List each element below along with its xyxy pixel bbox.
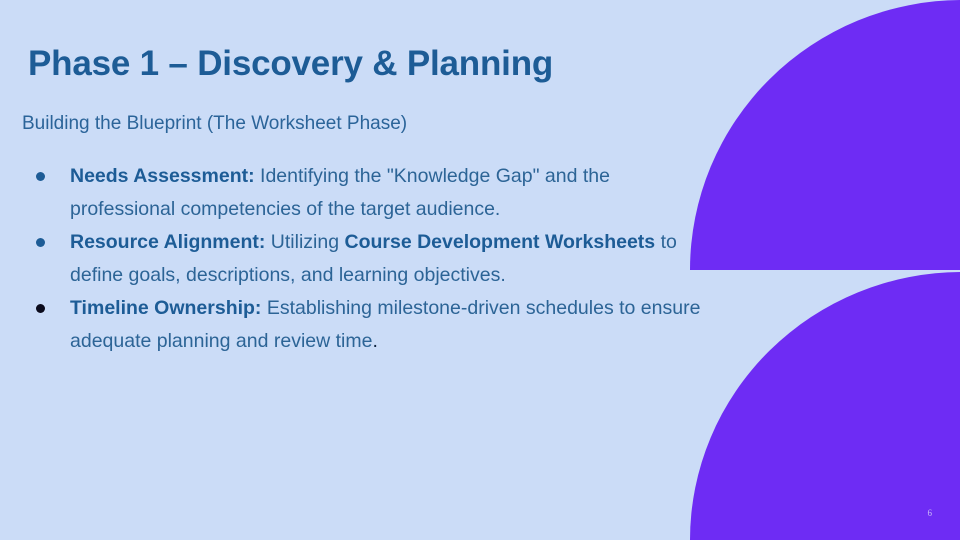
bullet-lead-label: Timeline Ownership: bbox=[70, 297, 261, 319]
list-item: Resource Alignment: Utilizing Course Dev… bbox=[22, 226, 702, 292]
bullet-body-text: Utilizing bbox=[265, 231, 344, 253]
list-item: Needs Assessment: Identifying the "Knowl… bbox=[22, 160, 702, 226]
page-number: 6 bbox=[928, 508, 933, 518]
slide-canvas: Phase 1 – Discovery & Planning Building … bbox=[0, 0, 960, 540]
bullet-dot-icon bbox=[36, 304, 45, 313]
bullet-dot-icon bbox=[36, 238, 45, 247]
bullet-lead-label: Needs Assessment: bbox=[70, 165, 255, 187]
bullet-list: Needs Assessment: Identifying the "Knowl… bbox=[22, 160, 702, 358]
slide-title: Phase 1 – Discovery & Planning bbox=[28, 44, 688, 83]
list-item: Timeline Ownership: Establishing milesto… bbox=[22, 292, 702, 358]
bullet-end-mark: . bbox=[372, 330, 377, 352]
quarter-circle-bottom-decoration bbox=[690, 272, 960, 540]
slide-subtitle: Building the Blueprint (The Worksheet Ph… bbox=[22, 112, 702, 137]
quarter-circle-top-decoration bbox=[690, 0, 960, 270]
bullet-dot-icon bbox=[36, 172, 45, 181]
bullet-emphasis-text: Course Development Worksheets bbox=[345, 231, 656, 253]
bullet-lead-label: Resource Alignment: bbox=[70, 231, 265, 253]
